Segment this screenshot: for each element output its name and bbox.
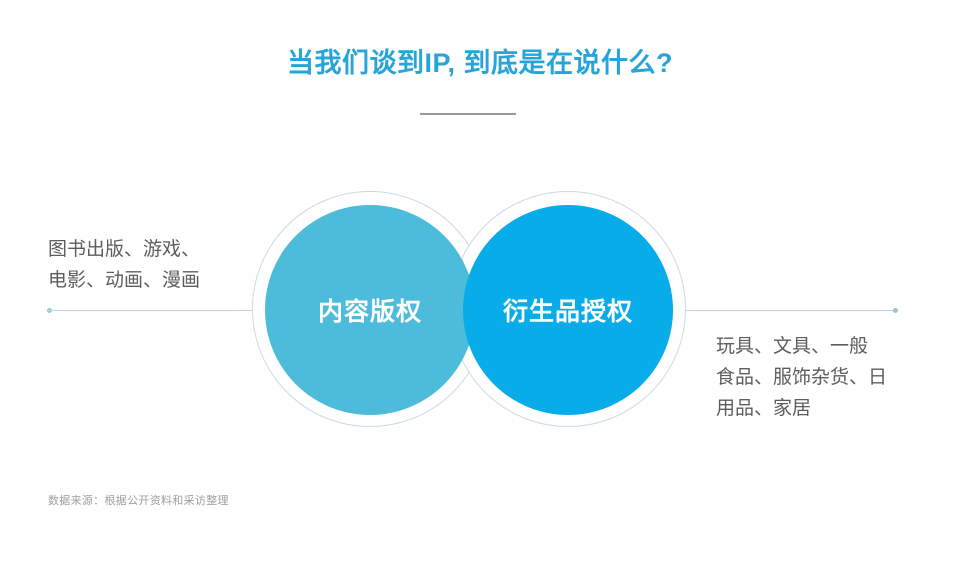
page-title: 当我们谈到IP, 到底是在说什么? (0, 45, 960, 81)
venn-left-circle-label: 内容版权 (318, 292, 422, 328)
venn-right-circle-label: 衍生品授权 (503, 292, 633, 328)
connector-dot-right (893, 308, 898, 313)
slide-canvas: 当我们谈到IP, 到底是在说什么? 内容版权 衍生品授权 图书出版、游戏、 电影… (0, 0, 960, 571)
connector-line-left (48, 310, 273, 311)
venn-left-circle[interactable]: 内容版权 (265, 205, 475, 415)
title-divider (420, 113, 516, 115)
connector-line-right (686, 310, 895, 311)
venn-right-circle[interactable]: 衍生品授权 (463, 205, 673, 415)
caption-right: 玩具、文具、一般 食品、服饰杂货、日 用品、家居 (716, 331, 916, 424)
venn-diagram: 内容版权 衍生品授权 (250, 191, 690, 429)
footer-source-note: 数据来源：根据公开资料和采访整理 (48, 492, 229, 508)
caption-left: 图书出版、游戏、 电影、动画、漫画 (48, 234, 248, 296)
